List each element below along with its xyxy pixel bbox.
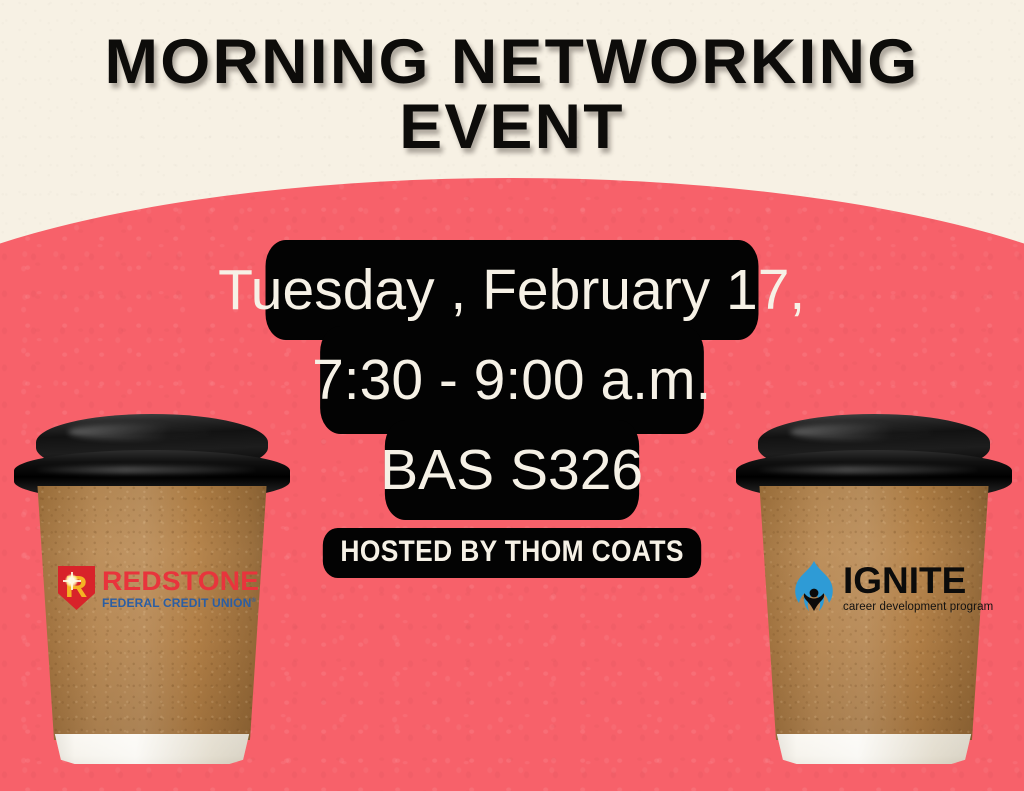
page-title: MORNING NETWORKING EVENT	[0, 30, 1024, 160]
event-time-block: 7:30 - 9:00 a.m.	[320, 326, 704, 434]
event-location-block: BAS S326	[385, 420, 639, 520]
event-flyer: MORNING NETWORKING EVENT Tuesday , Febru…	[0, 0, 1024, 791]
event-host-badge: HOSTED BY THOM COATS	[323, 528, 702, 578]
headline-line-2: EVENT	[0, 95, 1024, 160]
figure-head	[810, 589, 819, 598]
event-date-text: Tuesday , February 17,	[218, 257, 805, 323]
event-date-block: Tuesday , February 17,	[266, 240, 759, 340]
redstone-brand-tagline: FEDERAL CREDIT UNION®	[102, 597, 256, 609]
event-location-text: BAS S326	[380, 437, 643, 503]
ignite-brand-tagline: career development program	[843, 602, 993, 614]
headline-line-1: MORNING NETWORKING	[0, 30, 1024, 95]
event-details-stack: Tuesday , February 17, 7:30 - 9:00 a.m. …	[0, 240, 1024, 578]
event-time-text: 7:30 - 9:00 a.m.	[312, 347, 711, 413]
